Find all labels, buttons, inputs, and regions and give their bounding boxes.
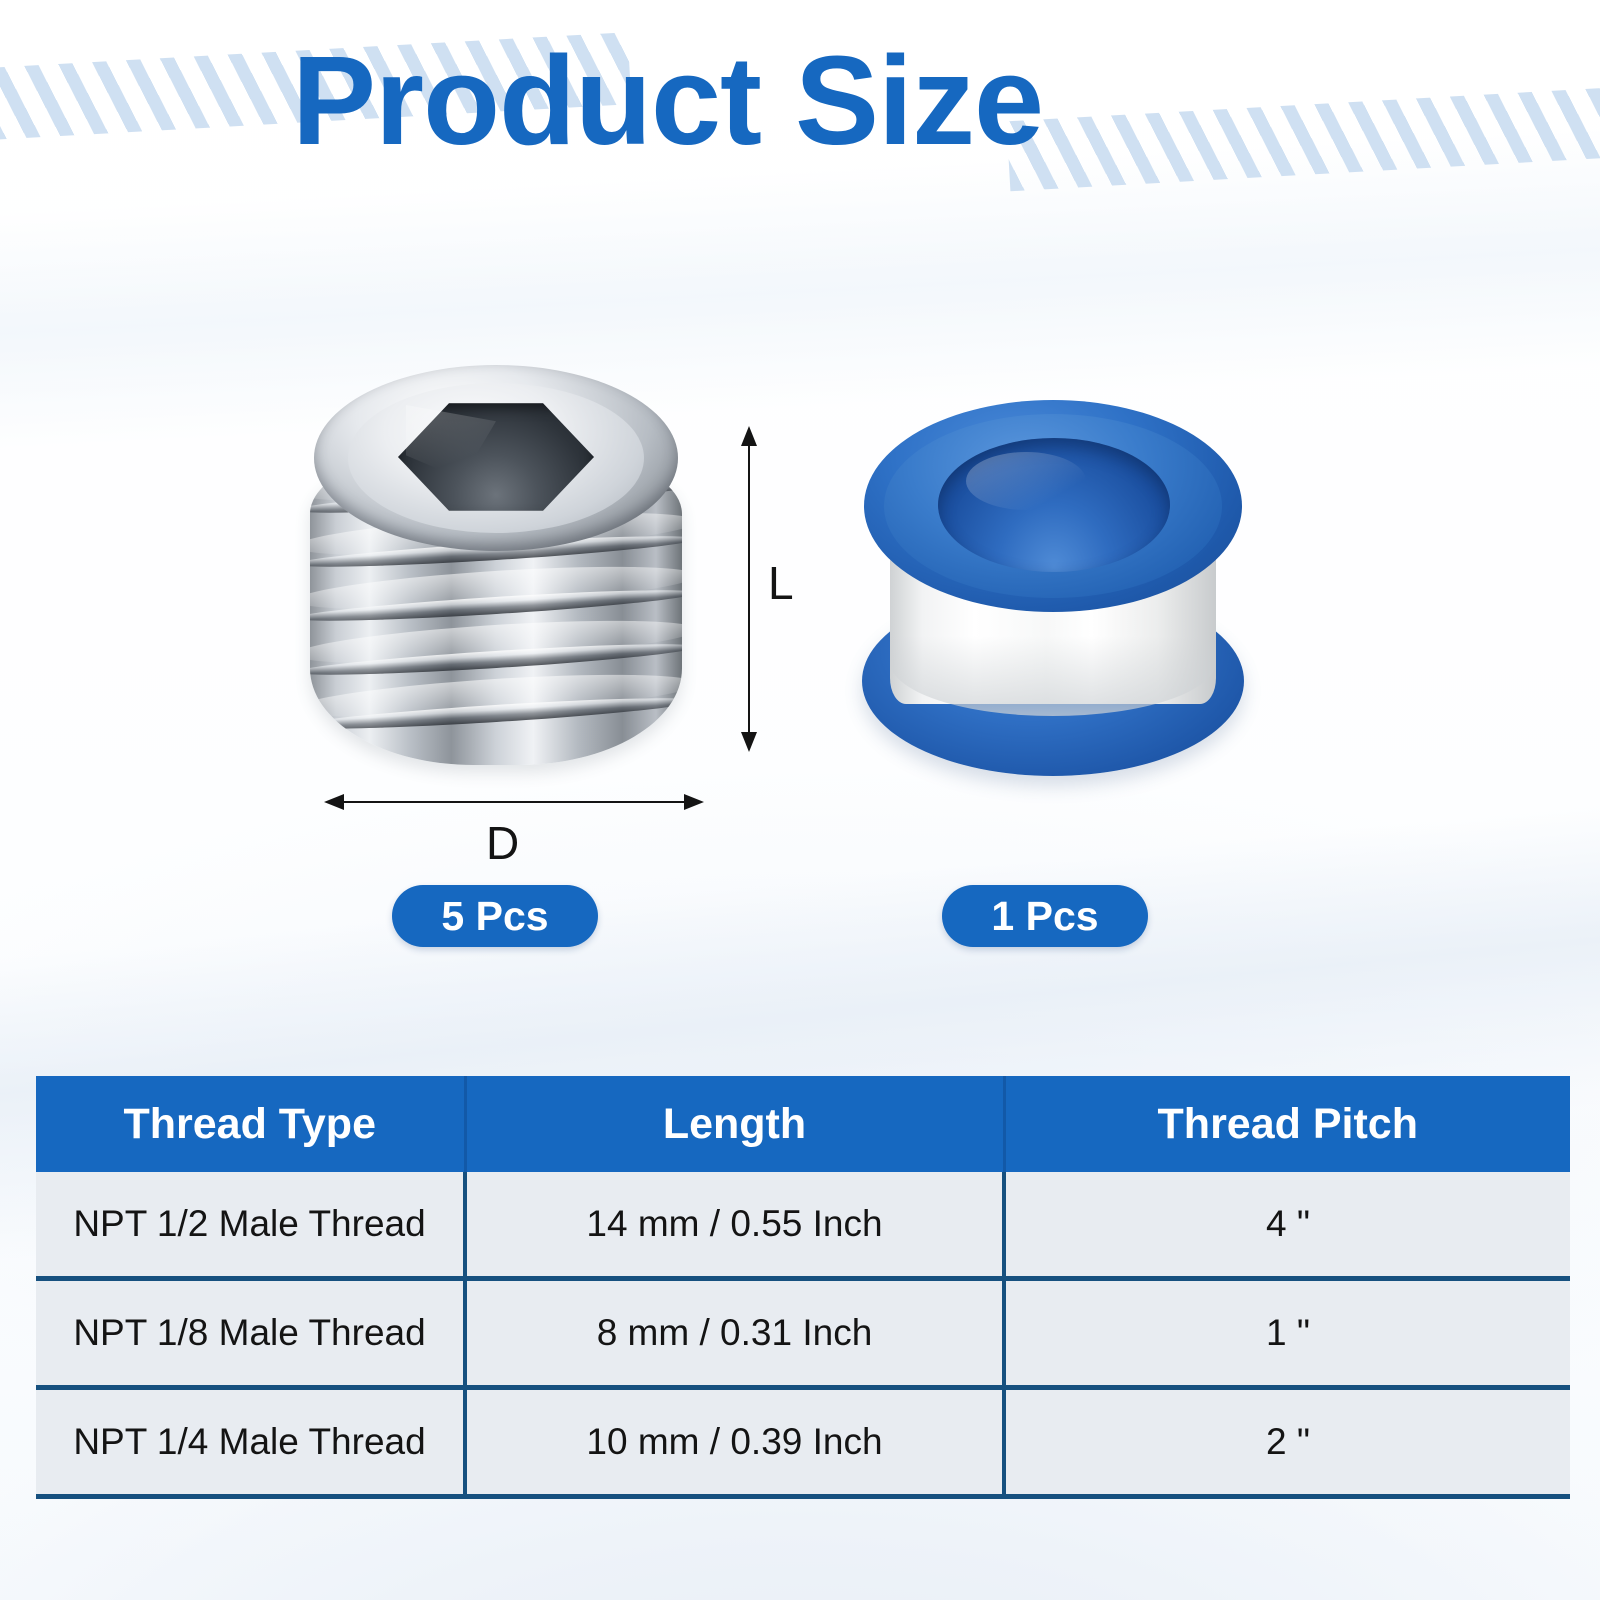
- table-row: NPT 1/4 Male Thread 10 mm / 0.39 Inch 2 …: [36, 1388, 1570, 1497]
- column-header-thread-pitch: Thread Pitch: [1004, 1076, 1570, 1172]
- cell-thread-pitch: 2 ": [1004, 1388, 1570, 1497]
- length-dimension-line: [748, 440, 750, 748]
- plug-head-rim: [314, 365, 678, 551]
- quantity-badge-plug: 5 Pcs: [392, 885, 598, 947]
- length-dimension-label: L: [768, 560, 794, 606]
- diagonal-stripes-icon-right: [1007, 87, 1600, 192]
- cell-thread-type: NPT 1/8 Male Thread: [36, 1279, 465, 1388]
- arrow-down-icon: [741, 732, 757, 752]
- arrow-up-icon: [741, 426, 757, 446]
- table-body: NPT 1/2 Male Thread 14 mm / 0.55 Inch 4 …: [36, 1172, 1570, 1497]
- table-row: NPT 1/8 Male Thread 8 mm / 0.31 Inch 1 ": [36, 1279, 1570, 1388]
- table-row: NPT 1/2 Male Thread 14 mm / 0.55 Inch 4 …: [36, 1172, 1570, 1279]
- cell-length: 14 mm / 0.55 Inch: [465, 1172, 1004, 1279]
- cell-thread-type: NPT 1/4 Male Thread: [36, 1388, 465, 1497]
- product-size-infographic: Product Size: [0, 0, 1600, 1600]
- product-illustration-area: L D: [0, 330, 1600, 950]
- arrow-left-icon: [324, 794, 344, 810]
- page-header: Product Size: [0, 0, 1600, 210]
- cell-thread-type: NPT 1/2 Male Thread: [36, 1172, 465, 1279]
- column-header-thread-type: Thread Type: [36, 1076, 465, 1172]
- diameter-dimension-line: [340, 801, 688, 803]
- cell-length: 10 mm / 0.39 Inch: [465, 1388, 1004, 1497]
- tape-core-highlight: [966, 452, 1086, 510]
- cell-thread-pitch: 4 ": [1004, 1172, 1570, 1279]
- specification-table: Thread Type Length Thread Pitch NPT 1/2 …: [36, 1076, 1570, 1499]
- cell-thread-pitch: 1 ": [1004, 1279, 1570, 1388]
- cell-length: 8 mm / 0.31 Inch: [465, 1279, 1004, 1388]
- column-header-length: Length: [465, 1076, 1004, 1172]
- page-title: Product Size: [292, 38, 1043, 164]
- table-header-row: Thread Type Length Thread Pitch: [36, 1076, 1570, 1172]
- arrow-right-icon: [684, 794, 704, 810]
- quantity-badge-tape: 1 Pcs: [942, 885, 1148, 947]
- npt-pipe-plug-image: [310, 365, 682, 765]
- ptfe-tape-roll-image: [862, 400, 1244, 776]
- diameter-dimension-label: D: [486, 820, 519, 866]
- table-header: Thread Type Length Thread Pitch: [36, 1076, 1570, 1172]
